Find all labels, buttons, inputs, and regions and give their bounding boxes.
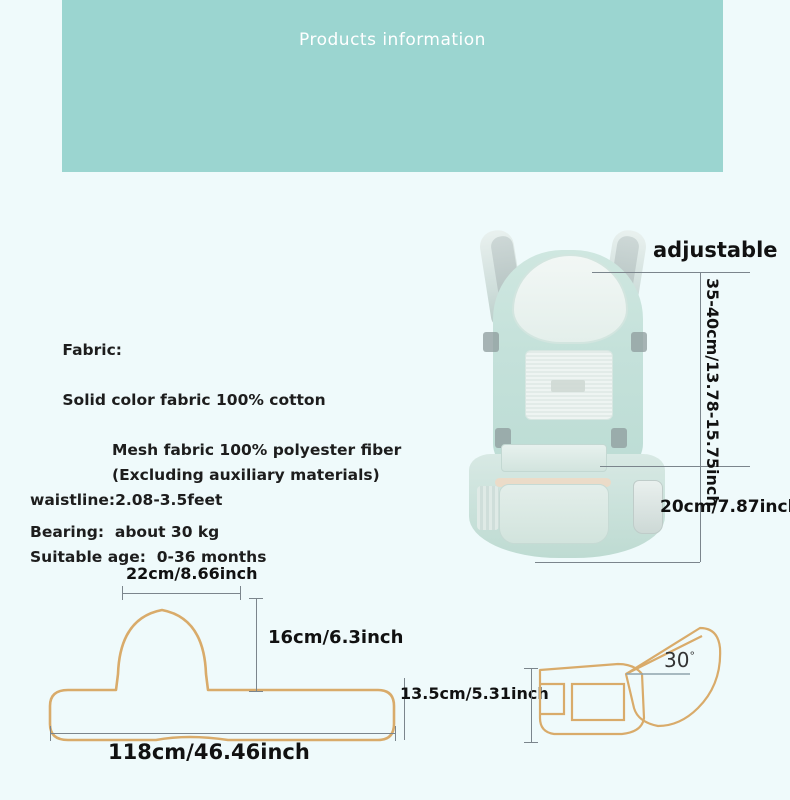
- dimension-line-middle: [600, 466, 750, 467]
- dimension-span-height: [700, 272, 701, 466]
- specifications-block: Fabric: Solid color fabric 100% cotton M…: [30, 313, 430, 570]
- belt-total-length-label: 118cm/46.46inch: [108, 740, 310, 764]
- angle-label: 30°: [664, 648, 695, 672]
- adjustable-label: adjustable: [653, 238, 778, 262]
- spec-fabric-line-3: (Excluding auxiliary materials): [30, 463, 430, 488]
- dimension-line-top: [592, 272, 750, 273]
- height-range-label: 35-40cm/13.78-15.75inch: [703, 278, 722, 507]
- product-information-page: Products information Fabric: Solid color…: [0, 0, 790, 800]
- header-banner: Products information: [62, 0, 723, 172]
- spec-fabric-value-1: Solid color fabric 100% cotton: [62, 391, 325, 409]
- spec-fabric-line-1: Fabric: Solid color fabric 100% cotton: [30, 313, 430, 438]
- degree-symbol: °: [689, 649, 695, 662]
- side-height-line: [531, 668, 532, 742]
- belt-total-length-tick-right: [395, 726, 396, 741]
- hip-seat-pocket: [499, 484, 609, 544]
- spec-fabric-line-2: Mesh fabric 100% polyester fiber: [30, 438, 430, 463]
- buckle-shoulder-right: [631, 332, 647, 352]
- belt-total-length-tick-left: [50, 726, 51, 741]
- belt-top-width-tick-right: [240, 586, 241, 600]
- seat-height-label: 20cm/7.87inch: [660, 497, 790, 517]
- belt-top-width-line: [122, 593, 240, 594]
- angle-value: 30: [664, 648, 689, 672]
- bottle-holder: [633, 480, 663, 534]
- spec-waistline: waistline:2.08-3.5feet: [30, 488, 430, 513]
- buckle-waist-right: [611, 428, 627, 448]
- side-view-diagram: [522, 622, 752, 752]
- side-zipper: [477, 486, 499, 530]
- product-photo: [455, 222, 695, 567]
- dimension-line-bottom: [535, 562, 700, 563]
- belt-top-width-label: 22cm/8.66inch: [126, 564, 258, 583]
- side-height-tick-top: [524, 668, 538, 669]
- side-height-tick-bottom: [524, 742, 538, 743]
- belt-panel-height-tick-top: [249, 598, 263, 599]
- page-title: Products information: [62, 30, 723, 50]
- spec-fabric-label: Fabric:: [62, 341, 122, 359]
- spec-bearing: Bearing: about 30 kg: [30, 520, 430, 545]
- belt-panel-height-line: [256, 598, 257, 691]
- buckle-shoulder-left: [483, 332, 499, 352]
- hip-seat-top-strap: [501, 444, 607, 472]
- belt-panel-height-label: 16cm/6.3inch: [268, 627, 403, 648]
- brand-logo: [551, 380, 585, 392]
- belt-panel-height-tick-bottom: [249, 691, 263, 692]
- belt-top-width-tick-left: [122, 586, 123, 600]
- belt-total-length-line: [50, 733, 395, 734]
